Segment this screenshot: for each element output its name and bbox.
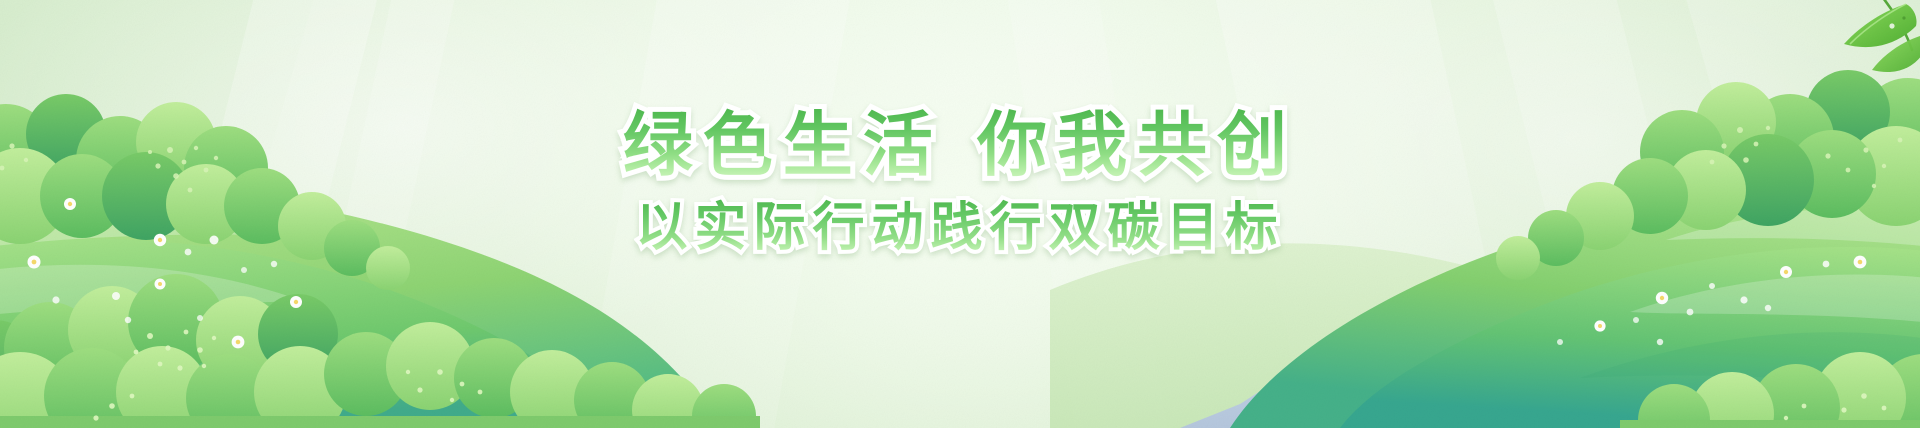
leaf-sprig-top-right xyxy=(1844,0,1920,72)
eco-banner: 绿色生活 你我共创 绿色生活 你我共创 以实际行动践行双碳目标 以实际行动践行双… xyxy=(0,0,1920,428)
scenery-illustration xyxy=(0,0,1920,428)
